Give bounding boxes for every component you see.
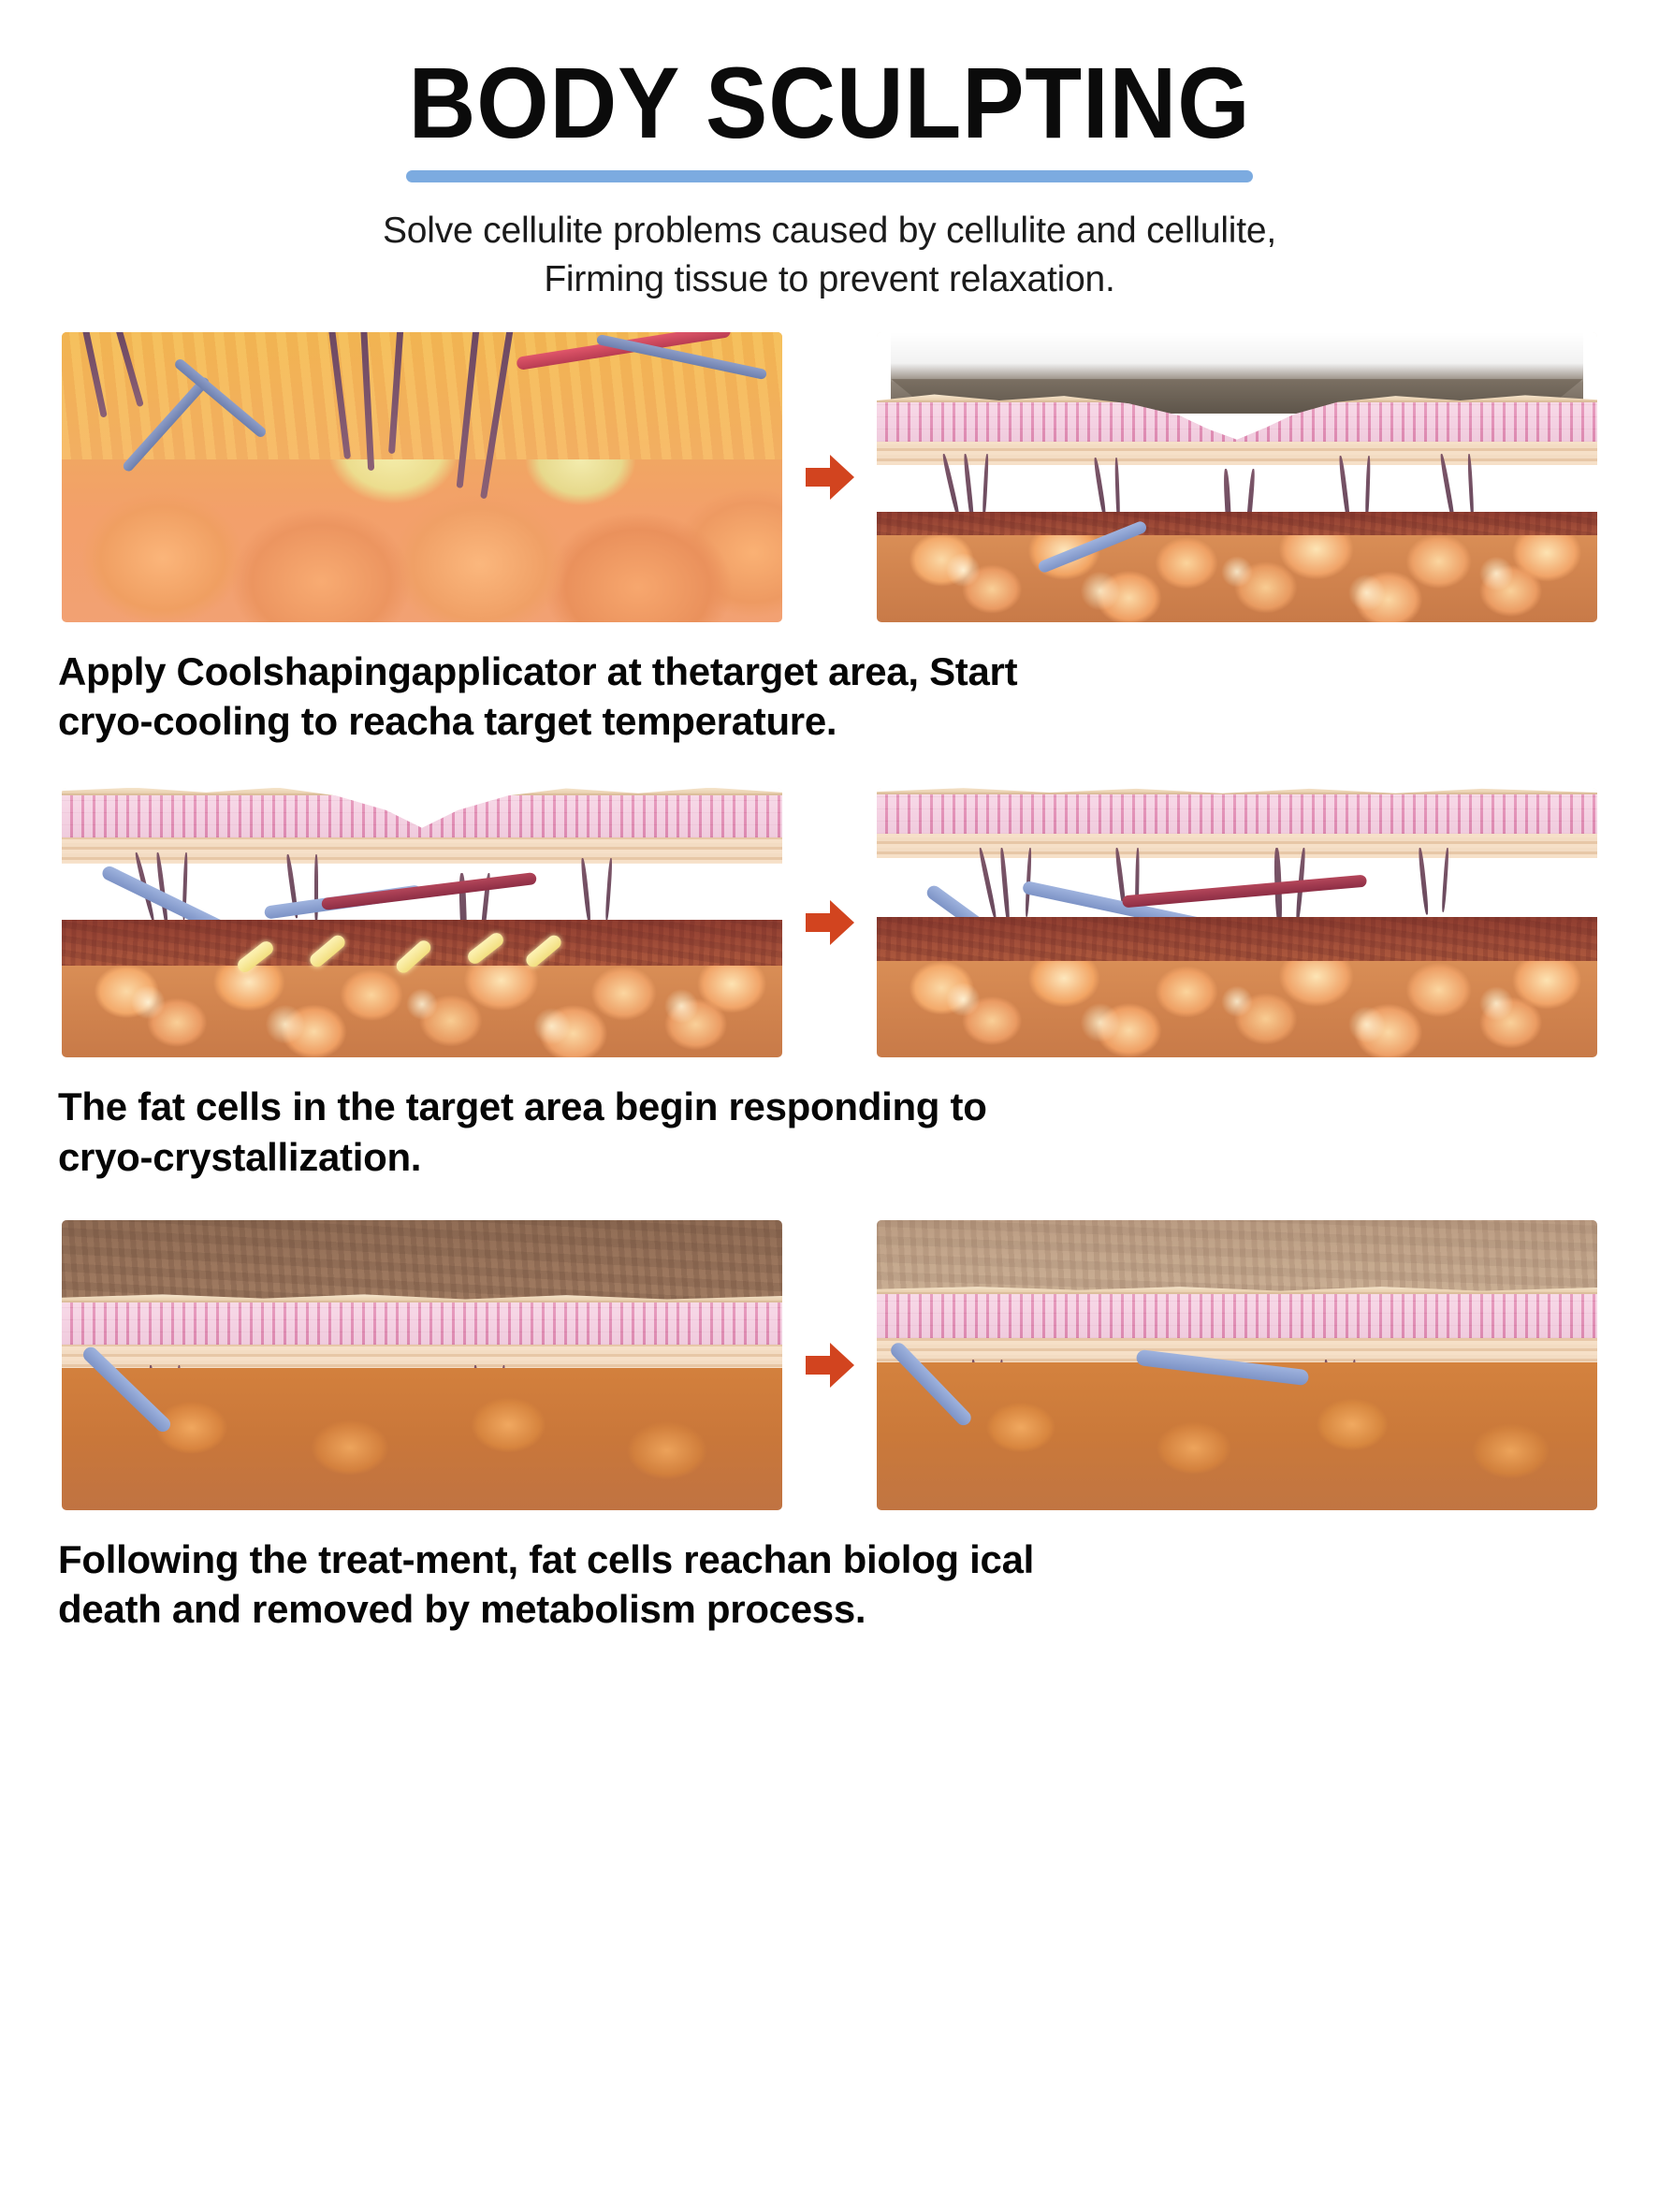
post-treatment-skin-art [62, 1220, 782, 1510]
arrow-right-icon [806, 455, 854, 500]
step-2-after-image [877, 788, 1597, 1057]
step-3-caption: Following the treat-ment, fat cells reac… [0, 1510, 1659, 1636]
step-3-before-image [62, 1220, 782, 1510]
step-3-caption-line-1: Following the treat-ment, fat cells reac… [58, 1535, 1603, 1585]
step-2-caption: The fat cells in the target area begin r… [0, 1057, 1659, 1183]
arrow-right-icon [806, 900, 854, 945]
arrow-right-icon [806, 1343, 854, 1388]
step-3: Following the treat-ment, fat cells reac… [0, 1220, 1659, 1636]
step-3-caption-line-2: death and removed by metabolism process. [58, 1584, 1603, 1635]
step-1-caption: Apply Coolshapingapplicator at thetarget… [0, 622, 1659, 748]
subtitle-line-2: Firming tissue to prevent relaxation. [0, 255, 1659, 304]
responding-fat-cells-art [877, 788, 1597, 1057]
step-2-images [0, 788, 1659, 1057]
metabolised-fat-skin-art [877, 1220, 1597, 1510]
step-1: Apply Coolshapingapplicator at thetarget… [0, 332, 1659, 748]
applicator-cross-section-art [877, 332, 1597, 622]
step-1-arrow-container [782, 455, 877, 500]
step-2: The fat cells in the target area begin r… [0, 788, 1659, 1183]
cryo-crystallization-art [62, 788, 782, 1057]
infographic-page: BODY SCULPTING Solve cellulite problems … [0, 0, 1659, 2212]
step-1-after-image [877, 332, 1597, 622]
step-3-after-image [877, 1220, 1597, 1510]
step-2-caption-line-1: The fat cells in the target area begin r… [58, 1082, 1603, 1132]
step-3-arrow-container [782, 1343, 877, 1388]
header: BODY SCULPTING Solve cellulite problems … [0, 0, 1659, 304]
title-underline-rule [406, 170, 1253, 182]
page-title: BODY SCULPTING [66, 52, 1593, 153]
step-1-caption-line-2: cryo-cooling to reacha target temperatur… [58, 696, 1603, 747]
step-1-images [0, 332, 1659, 622]
subtitle-line-1: Solve cellulite problems caused by cellu… [0, 207, 1659, 255]
step-3-images [0, 1220, 1659, 1510]
fat-cell-microscopy-art [62, 332, 782, 622]
step-2-before-image [62, 788, 782, 1057]
step-1-caption-line-1: Apply Coolshapingapplicator at thetarget… [58, 647, 1603, 697]
step-2-arrow-container [782, 900, 877, 945]
page-subtitle: Solve cellulite problems caused by cellu… [0, 207, 1659, 304]
steps-container: Apply Coolshapingapplicator at thetarget… [0, 332, 1659, 1636]
step-2-caption-line-2: cryo-crystallization. [58, 1132, 1603, 1183]
step-1-before-image [62, 332, 782, 622]
